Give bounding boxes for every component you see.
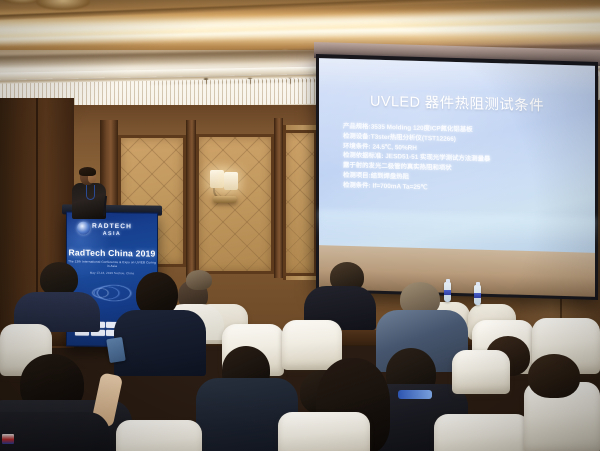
water-bottle xyxy=(474,285,481,305)
presenter xyxy=(72,168,106,218)
screen-lower-glow xyxy=(319,210,595,244)
audience-shoulders xyxy=(114,310,206,376)
podium-logo-sub: ASIA xyxy=(67,230,157,237)
presenter-hair xyxy=(79,167,96,176)
slide-body: 产品规格:3535 Molding 120度ICP氮化铝基板 检测设备:T3st… xyxy=(343,122,581,197)
podium-logo-main: RADTECH xyxy=(92,223,132,231)
audience-shoulders xyxy=(0,412,110,451)
presenter-lanyard xyxy=(86,185,95,200)
conference-room-photo: UVLED 器件热阻测试条件 产品规格:3535 Molding 120度ICP… xyxy=(0,0,600,451)
chair xyxy=(452,350,510,394)
water-bottle xyxy=(444,282,451,302)
chair xyxy=(278,412,370,451)
wall-panel xyxy=(196,134,274,274)
sconce-lamp-icon xyxy=(210,170,224,188)
chair xyxy=(116,420,202,451)
sconce-backplate xyxy=(213,196,237,203)
slide-surface: UVLED 器件热阻测试条件 产品规格:3535 Molding 120度ICP… xyxy=(319,58,595,254)
podium-logo: RADTECH ASIA xyxy=(67,222,157,237)
audience-lanyard xyxy=(398,390,432,399)
podium-headline: RadTech China 2019 xyxy=(67,247,157,258)
wall-panel xyxy=(283,130,317,276)
wall-pillar xyxy=(274,118,283,278)
chair xyxy=(434,414,530,451)
audience-head xyxy=(528,354,580,398)
audience-head xyxy=(40,262,78,296)
audience-head xyxy=(186,270,212,290)
badge-icon xyxy=(2,434,14,444)
audience-area xyxy=(0,262,600,451)
wall-pillar xyxy=(186,120,196,278)
sconce-lamp-icon xyxy=(224,172,238,190)
